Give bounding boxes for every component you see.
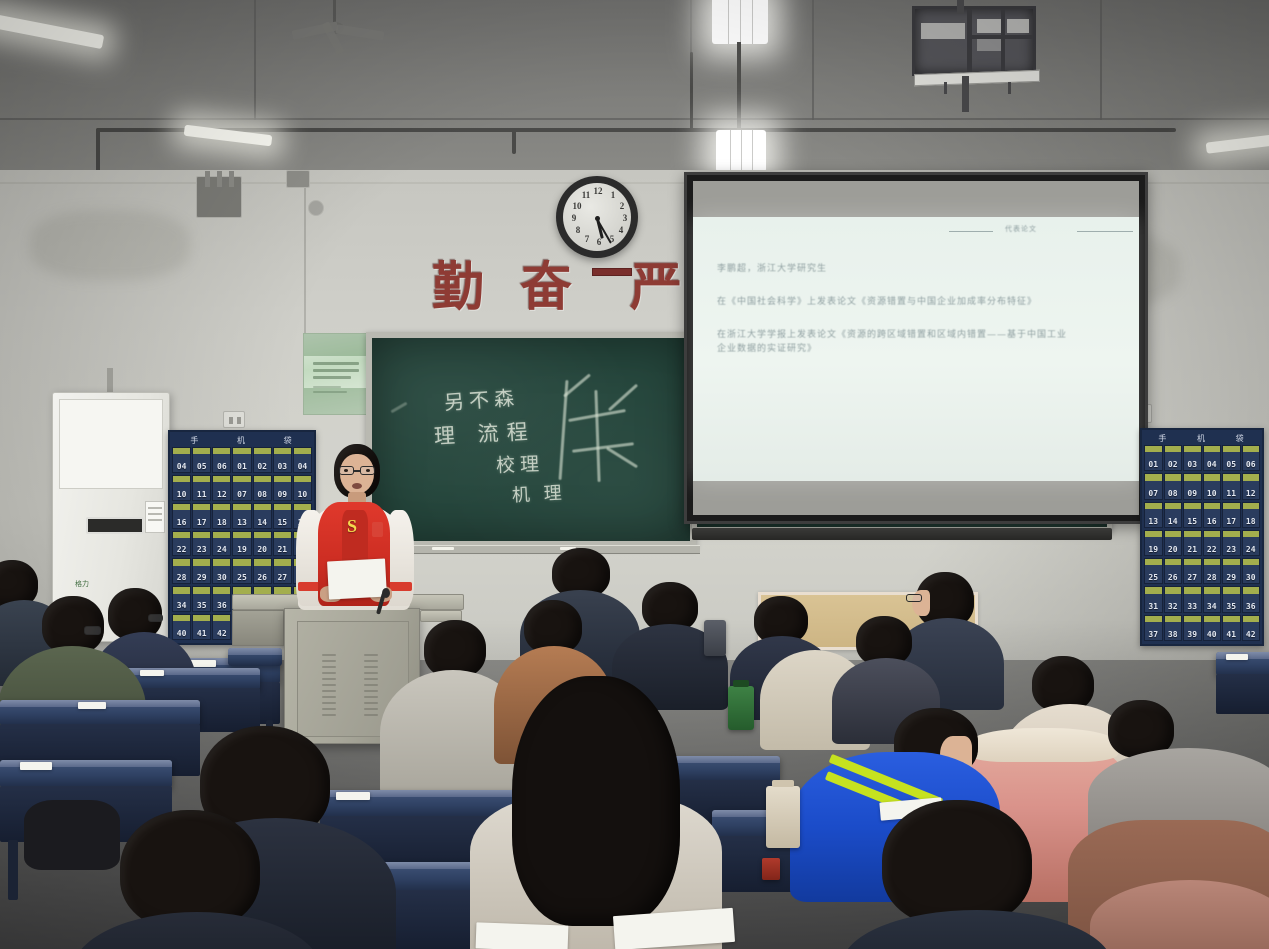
slide-rule bbox=[949, 231, 993, 232]
phone-pocket[interactable]: 07 bbox=[1144, 473, 1163, 499]
classroom-scene: 12 1 2 3 4 5 6 7 8 9 10 11 勤 奋 严 谨 bbox=[0, 0, 1269, 949]
phone-pocket[interactable]: 27 bbox=[1183, 558, 1202, 584]
pocket-row: 28 29 30 25 26 27 28 bbox=[172, 557, 312, 585]
side-table bbox=[228, 648, 282, 666]
beige-cup[interactable] bbox=[766, 786, 800, 848]
ac-brand-mark: 格力 bbox=[75, 579, 89, 589]
clock-numeral: 3 bbox=[619, 214, 631, 223]
pocket-number: 15 bbox=[1187, 517, 1197, 527]
phone-pocket[interactable]: 14 bbox=[253, 503, 272, 529]
ac-pipe bbox=[107, 368, 113, 394]
pocket-title-char: 机 bbox=[1197, 433, 1207, 444]
pocket-number: 17 bbox=[1226, 517, 1236, 527]
phone-pocket[interactable]: 03 bbox=[1183, 445, 1202, 471]
av-equipment-box bbox=[912, 6, 1036, 76]
av-mount-drop bbox=[962, 76, 969, 112]
pocket-number: 18 bbox=[217, 518, 227, 528]
phone-pocket-holder-right: 手 机 袋 01 02 03 04 05 06 07 08 09 10 11 1… bbox=[1140, 428, 1264, 646]
pocket-number: 14 bbox=[257, 518, 267, 528]
pocket-number: 40 bbox=[1207, 630, 1217, 640]
pocket-number: 27 bbox=[277, 573, 287, 583]
pocket-row: 37 38 39 40 41 42 bbox=[1144, 614, 1260, 642]
clock-numeral: 11 bbox=[580, 191, 592, 200]
ceiling-conduit bbox=[690, 52, 693, 130]
pocket-number: 09 bbox=[277, 490, 287, 500]
pocket-number: 19 bbox=[1148, 545, 1158, 555]
pocket-number: 12 bbox=[217, 490, 227, 500]
pocket-number: 33 bbox=[1187, 602, 1197, 612]
phone-pocket[interactable]: 28 bbox=[1203, 558, 1222, 584]
pocket-number: 06 bbox=[1246, 460, 1256, 470]
phone-pocket[interactable]: 16 bbox=[1203, 502, 1222, 528]
phone-pocket[interactable]: 09 bbox=[1183, 473, 1202, 499]
pocket-number: 37 bbox=[1148, 630, 1158, 640]
phone-pocket[interactable]: 36 bbox=[1242, 586, 1261, 612]
pocket-number: 11 bbox=[1226, 489, 1236, 499]
phone-pocket[interactable]: 42 bbox=[1242, 615, 1261, 641]
phone-pocket[interactable]: 22 bbox=[172, 531, 191, 557]
pocket-number: 21 bbox=[1187, 545, 1197, 555]
glasses-icon bbox=[84, 626, 102, 635]
phone-pocket[interactable]: 12 bbox=[212, 475, 231, 501]
ceiling-conduit bbox=[512, 128, 516, 154]
pocket-number: 30 bbox=[1246, 573, 1256, 583]
student-head bbox=[882, 800, 1032, 926]
pocket-number: 28 bbox=[177, 573, 187, 583]
wall-knob bbox=[308, 200, 324, 216]
chalk-writing: 校理 bbox=[496, 455, 545, 476]
pocket-number: 11 bbox=[197, 490, 207, 500]
paper-on-desk bbox=[1226, 654, 1248, 660]
pocket-number: 20 bbox=[1168, 545, 1178, 555]
phone-pocket[interactable]: 22 bbox=[1203, 530, 1222, 556]
glasses-icon bbox=[906, 594, 924, 602]
pocket-number: 07 bbox=[237, 490, 247, 500]
phone-pocket[interactable]: 15 bbox=[273, 503, 292, 529]
red-item[interactable] bbox=[762, 858, 780, 880]
vest-badge bbox=[372, 522, 383, 537]
poster-text-line bbox=[313, 391, 347, 393]
vest-logo-text: S bbox=[347, 516, 357, 537]
phone-pocket[interactable]: 20 bbox=[1164, 530, 1183, 556]
pocket-row: 10 11 12 07 08 09 10 bbox=[172, 474, 312, 502]
pocket-row: 19 20 21 22 23 24 bbox=[1144, 529, 1260, 557]
phone-pocket[interactable]: 30 bbox=[212, 558, 231, 584]
phone-pocket[interactable]: 36 bbox=[212, 586, 231, 612]
pocket-number: 36 bbox=[217, 601, 227, 611]
phone-pocket[interactable]: 12 bbox=[1242, 473, 1261, 499]
slide-line-4: 企业数据的实证研究》 bbox=[717, 341, 817, 354]
pocket-number: 07 bbox=[1148, 489, 1158, 499]
pocket-number: 41 bbox=[1226, 630, 1236, 640]
phone-pocket[interactable]: 24 bbox=[212, 531, 231, 557]
pocket-number: 24 bbox=[1246, 545, 1256, 555]
pocket-number: 19 bbox=[237, 545, 247, 555]
slide-line-2: 在《中国社会科学》上发表论文《资源错置与中国企业加成率分布特征》 bbox=[717, 294, 1037, 307]
ac-upper-panel bbox=[59, 399, 163, 489]
phone-pocket[interactable]: 19 bbox=[1144, 530, 1163, 556]
phone-pocket[interactable]: 24 bbox=[1242, 530, 1261, 556]
chalk-piece bbox=[432, 547, 454, 550]
clock-numeral: 12 bbox=[592, 187, 604, 196]
pocket-row: 13 14 15 16 17 18 bbox=[1144, 501, 1260, 529]
pocket-number: 25 bbox=[237, 573, 247, 583]
fluorescent-tube-light bbox=[0, 13, 104, 49]
slide-line-3: 在浙江大学学报上发表论文《资源的跨区域错置和区域内错置——基于中国工业 bbox=[717, 327, 1067, 340]
pocket-number: 16 bbox=[177, 518, 187, 528]
ceiling-fan-blade bbox=[336, 24, 385, 40]
phone-pocket[interactable]: 16 bbox=[172, 503, 191, 529]
phone-pocket[interactable]: 23 bbox=[1222, 530, 1241, 556]
ceiling-seam bbox=[1100, 0, 1102, 120]
pocket-number: 14 bbox=[1168, 517, 1178, 527]
phone-pocket[interactable]: 18 bbox=[212, 503, 231, 529]
fluorescent-tube-light bbox=[1206, 133, 1269, 153]
pocket-number: 08 bbox=[1168, 489, 1178, 499]
pocket-holder-title: 手 机 袋 bbox=[1144, 432, 1260, 444]
pocket-number: 13 bbox=[237, 518, 247, 528]
phone-pocket[interactable]: 39 bbox=[1183, 615, 1202, 641]
poster-text-line bbox=[313, 362, 359, 365]
pocket-number: 26 bbox=[257, 573, 267, 583]
wall-conduit-bracket bbox=[196, 176, 242, 218]
pocket-number: 20 bbox=[257, 545, 267, 555]
pocket-title-char: 机 bbox=[237, 435, 247, 446]
pocket-number: 15 bbox=[277, 518, 287, 528]
phone-pocket[interactable]: 02 bbox=[253, 447, 272, 473]
chalk-writing: 机 理 bbox=[512, 485, 567, 506]
phone-pocket[interactable]: 40 bbox=[1203, 615, 1222, 641]
student-body bbox=[842, 910, 1112, 949]
phone-pocket[interactable]: 14 bbox=[1164, 502, 1183, 528]
phone-pocket[interactable]: 13 bbox=[232, 503, 251, 529]
student-front-bottom-right bbox=[862, 800, 1112, 949]
pocket-number: 41 bbox=[197, 629, 207, 639]
chalk-writing: 理 流程 bbox=[434, 421, 537, 447]
pocket-number: 08 bbox=[257, 490, 267, 500]
phone-pocket[interactable]: 06 bbox=[212, 447, 231, 473]
projector-screen-rail bbox=[692, 528, 1112, 540]
phone-pocket[interactable]: 32 bbox=[1164, 586, 1183, 612]
phone-pocket[interactable]: 26 bbox=[1164, 558, 1183, 584]
pocket-row: 16 17 18 13 14 15 16 bbox=[172, 502, 312, 530]
clock-face: 12 1 2 3 4 5 6 7 8 9 10 11 bbox=[563, 183, 631, 251]
pocket-number: 39 bbox=[1187, 630, 1197, 640]
glasses-icon bbox=[148, 614, 164, 622]
phone-pocket[interactable]: 10 bbox=[172, 475, 191, 501]
pocket-number: 26 bbox=[1168, 573, 1178, 583]
pocket-row: 22 23 24 19 20 21 22 bbox=[172, 530, 312, 558]
pocket-holder-title: 手 机 袋 bbox=[172, 434, 312, 446]
student-body bbox=[1090, 880, 1269, 949]
pocket-number: 29 bbox=[1226, 573, 1236, 583]
phone-pocket[interactable]: 21 bbox=[273, 531, 292, 557]
pocket-number: 29 bbox=[197, 573, 207, 583]
pocket-number: 31 bbox=[1148, 602, 1158, 612]
student-front-bottom-left bbox=[92, 810, 312, 949]
phone-pocket[interactable]: 05 bbox=[1222, 445, 1241, 471]
phone-pocket[interactable]: 02 bbox=[1164, 445, 1183, 471]
pocket-number: 28 bbox=[1207, 573, 1217, 583]
mouth bbox=[352, 483, 362, 489]
eye bbox=[344, 469, 348, 472]
dark-bottle[interactable] bbox=[704, 620, 726, 656]
pocket-number: 35 bbox=[197, 601, 207, 611]
ceiling-seam bbox=[812, 0, 814, 120]
ac-control-panel[interactable] bbox=[145, 501, 165, 533]
pocket-row: 25 26 27 28 29 30 bbox=[1144, 557, 1260, 585]
clock-numeral: 7 bbox=[581, 235, 593, 244]
pocket-number: 38 bbox=[1168, 630, 1178, 640]
phone-pocket[interactable]: 34 bbox=[1203, 586, 1222, 612]
pocket-row: 31 32 33 34 35 36 bbox=[1144, 585, 1260, 613]
phone-pocket[interactable]: 28 bbox=[172, 558, 191, 584]
green-water-bottle[interactable] bbox=[728, 686, 754, 730]
pocket-number: 03 bbox=[277, 462, 287, 472]
pocket-number: 05 bbox=[197, 462, 207, 472]
phone-pocket[interactable]: 33 bbox=[1183, 586, 1202, 612]
pocket-number: 18 bbox=[1246, 517, 1256, 527]
clock-center-pin bbox=[595, 216, 600, 221]
motto-char: 奋 bbox=[520, 262, 578, 314]
pocket-row: 01 02 03 04 05 06 bbox=[1144, 444, 1260, 472]
pocket-number: 36 bbox=[1246, 602, 1256, 612]
pocket-number: 23 bbox=[1226, 545, 1236, 555]
av-mount-drop bbox=[957, 0, 964, 14]
phone-pocket[interactable]: 25 bbox=[1144, 558, 1163, 584]
pocket-number: 02 bbox=[1168, 460, 1178, 470]
ac-air-vent bbox=[86, 517, 144, 534]
pocket-number: 03 bbox=[1187, 460, 1197, 470]
phone-pocket[interactable]: 05 bbox=[192, 447, 211, 473]
paper-on-desk bbox=[140, 670, 164, 676]
phone-pocket[interactable]: 38 bbox=[1164, 615, 1183, 641]
pocket-number: 17 bbox=[197, 518, 207, 528]
pocket-number: 34 bbox=[1207, 602, 1217, 612]
phone-pocket[interactable]: 35 bbox=[1222, 586, 1241, 612]
phone-pocket[interactable]: 20 bbox=[253, 531, 272, 557]
eye bbox=[366, 469, 370, 472]
phone-pocket[interactable]: 11 bbox=[192, 475, 211, 501]
pocket-number: 01 bbox=[1148, 460, 1158, 470]
wall-socket bbox=[223, 411, 245, 428]
student-front-right-coat bbox=[1090, 880, 1269, 949]
student-body bbox=[72, 912, 322, 949]
pocket-number: 04 bbox=[177, 462, 187, 472]
clock-numeral: 8 bbox=[572, 226, 584, 235]
phone-pocket[interactable]: 31 bbox=[1144, 586, 1163, 612]
phone-pocket[interactable]: 42 bbox=[212, 614, 231, 640]
phone-pocket[interactable]: 30 bbox=[1242, 558, 1261, 584]
pendant-lamp bbox=[716, 130, 766, 172]
pendant-lamp bbox=[712, 0, 768, 44]
pocket-number: 02 bbox=[257, 462, 267, 472]
pocket-number: 22 bbox=[1207, 545, 1217, 555]
phone-pocket[interactable]: 13 bbox=[1144, 502, 1163, 528]
pocket-number: 42 bbox=[217, 629, 227, 639]
pocket-number: 09 bbox=[1187, 489, 1197, 499]
pocket-number: 06 bbox=[217, 462, 227, 472]
pocket-number: 12 bbox=[1246, 489, 1256, 499]
pocket-number: 22 bbox=[177, 545, 187, 555]
ceiling-fan-rod bbox=[333, 0, 336, 24]
ceiling-conduit bbox=[96, 128, 1176, 132]
phone-pocket[interactable]: 01 bbox=[1144, 445, 1163, 471]
pocket-number: 21 bbox=[277, 545, 287, 555]
projector-screen-surface: 代表论文 李鹏超，浙江大学研究生 在《中国社会科学》上发表论文《资源错置与中国企… bbox=[693, 181, 1139, 515]
phone-pocket[interactable]: 04 bbox=[172, 447, 191, 473]
poster-text-line bbox=[313, 376, 351, 379]
slide-header-label: 代表论文 bbox=[1005, 224, 1037, 234]
phone-pocket[interactable]: 11 bbox=[1222, 473, 1241, 499]
phone-pocket[interactable]: 25 bbox=[232, 558, 251, 584]
av-mount-hook bbox=[944, 82, 947, 94]
pocket-number: 10 bbox=[1207, 489, 1217, 499]
pocket-number: 27 bbox=[1187, 573, 1197, 583]
pocket-number: 16 bbox=[1207, 517, 1217, 527]
clock-numeral: 9 bbox=[568, 214, 580, 223]
phone-pocket[interactable]: 19 bbox=[232, 531, 251, 557]
pocket-title-char: 手 bbox=[190, 435, 200, 446]
phone-pocket[interactable]: 29 bbox=[1222, 558, 1241, 584]
pocket-number: 24 bbox=[217, 545, 227, 555]
paper-on-desk bbox=[476, 922, 569, 949]
phone-pocket[interactable]: 04 bbox=[1203, 445, 1222, 471]
paper-on-desk bbox=[613, 908, 735, 949]
wall-clock: 12 1 2 3 4 5 6 7 8 9 10 11 bbox=[556, 176, 638, 258]
long-hair bbox=[512, 676, 680, 926]
poster-text-line bbox=[313, 386, 341, 388]
clock-numeral: 4 bbox=[615, 226, 627, 235]
slide-rule bbox=[1077, 231, 1133, 232]
chalk-writing: 另不森 bbox=[443, 387, 519, 412]
phone-pocket[interactable]: 26 bbox=[253, 558, 272, 584]
ceiling bbox=[0, 0, 1269, 178]
projected-slide: 代表论文 李鹏超，浙江大学研究生 在《中国社会科学》上发表论文《资源错置与中国企… bbox=[693, 217, 1139, 481]
pocket-number: 04 bbox=[1207, 460, 1217, 470]
pocket-number: 30 bbox=[217, 573, 227, 583]
pocket-number: 13 bbox=[1148, 517, 1158, 527]
phone-pocket[interactable]: 18 bbox=[1242, 502, 1261, 528]
phone-pocket[interactable]: 01 bbox=[232, 447, 251, 473]
pocket-number: 10 bbox=[177, 490, 187, 500]
desk-leg bbox=[8, 840, 18, 900]
pocket-title-char: 袋 bbox=[1236, 433, 1246, 444]
phone-pocket[interactable]: 08 bbox=[253, 475, 272, 501]
paper-on-desk bbox=[78, 702, 106, 709]
microphone-head bbox=[382, 588, 390, 598]
ceiling-seam bbox=[0, 118, 1269, 120]
ceiling-seam bbox=[254, 0, 256, 120]
pocket-number: 01 bbox=[237, 462, 247, 472]
pendant-lamp-stem bbox=[737, 42, 741, 132]
phone-pocket[interactable]: 41 bbox=[1222, 615, 1241, 641]
speech-notes-paper[interactable] bbox=[327, 559, 387, 600]
pocket-title-char: 手 bbox=[1158, 433, 1168, 444]
paper-on-desk bbox=[20, 762, 52, 770]
motto-char: 勤 bbox=[432, 262, 490, 314]
pocket-number: 42 bbox=[1246, 630, 1256, 640]
pocket-number: 23 bbox=[197, 545, 207, 555]
wall-junction-box bbox=[286, 170, 310, 188]
motto-char: 严 bbox=[630, 262, 688, 314]
pocket-number: 32 bbox=[1168, 602, 1178, 612]
pocket-number: 25 bbox=[1148, 573, 1158, 583]
clock-numeral: 10 bbox=[571, 202, 583, 211]
phone-pocket[interactable]: 15 bbox=[1183, 502, 1202, 528]
phone-pocket[interactable]: 07 bbox=[232, 475, 251, 501]
pocket-title-char: 袋 bbox=[284, 435, 294, 446]
phone-pocket[interactable]: 29 bbox=[192, 558, 211, 584]
phone-pocket[interactable]: 23 bbox=[192, 531, 211, 557]
poster-text-line bbox=[313, 369, 359, 372]
phone-pocket[interactable]: 09 bbox=[273, 475, 292, 501]
phone-pocket[interactable]: 27 bbox=[273, 558, 292, 584]
slide-line-1: 李鹏超，浙江大学研究生 bbox=[717, 261, 827, 274]
presenter: S bbox=[296, 444, 412, 614]
phone-pocket[interactable]: 06 bbox=[1242, 445, 1261, 471]
pocket-row: 04 05 06 01 02 03 04 bbox=[172, 446, 312, 474]
phone-pocket[interactable]: 17 bbox=[1222, 502, 1241, 528]
pocket-number: 05 bbox=[1226, 460, 1236, 470]
pocket-number: 35 bbox=[1226, 602, 1236, 612]
phone-pocket[interactable]: 17 bbox=[192, 503, 211, 529]
projector-screen: 代表论文 李鹏超，浙江大学研究生 在《中国社会科学》上发表论文《资源错置与中国企… bbox=[684, 172, 1148, 524]
phone-pocket[interactable]: 08 bbox=[1164, 473, 1183, 499]
phone-pocket[interactable]: 21 bbox=[1183, 530, 1202, 556]
phone-pocket[interactable]: 03 bbox=[273, 447, 292, 473]
lectern-side-shelf bbox=[232, 610, 284, 646]
blackboard: 另不森 理 流程 校理 机 理 bbox=[366, 332, 696, 547]
clock-numeral: 6 bbox=[593, 238, 605, 247]
phone-pocket[interactable]: 37 bbox=[1144, 615, 1163, 641]
pocket-row: 07 08 09 10 11 12 bbox=[1144, 472, 1260, 500]
clock-numeral: 1 bbox=[607, 191, 619, 200]
safety-poster bbox=[303, 333, 369, 415]
student-front-longhair bbox=[470, 676, 730, 949]
clock-numeral: 2 bbox=[616, 202, 628, 211]
phone-pocket[interactable]: 10 bbox=[1203, 473, 1222, 499]
av-mount-hook bbox=[1008, 82, 1011, 94]
